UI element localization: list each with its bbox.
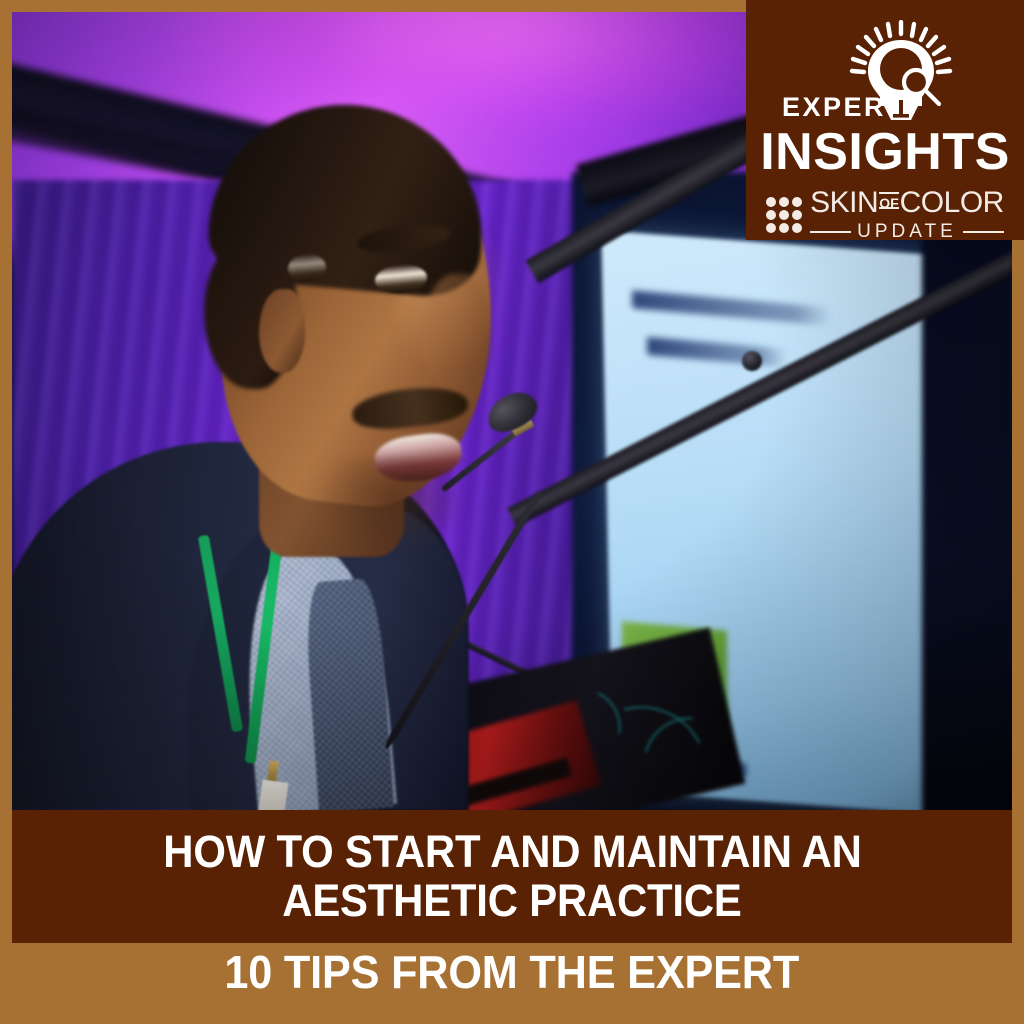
nose (421, 274, 491, 389)
hair (205, 94, 493, 301)
skin-of-color-text-block: SKIN OF COLOR UPDATE (810, 188, 1004, 241)
subtitle-band: 10 TIPS FROM THE EXPERT (12, 943, 1012, 1024)
title-line-2: AESTHETIC PRACTICE (282, 877, 741, 926)
promo-card: EXPERT INSIGHTS SKIN OF COLOR UPDATE (0, 0, 1024, 1024)
subtitle-text: 10 TIPS FROM THE EXPERT (225, 949, 800, 995)
update-rule-right (963, 231, 1004, 233)
lightbulb-magnifier-icon (838, 20, 966, 124)
title-banner: HOW TO START AND MAINTAIN AN AESTHETIC P… (12, 810, 1012, 943)
title-line-1: HOW TO START AND MAINTAIN AN (163, 828, 861, 877)
speaker-figure (12, 44, 572, 810)
chin-shadow (317, 458, 468, 558)
brand-word-update: UPDATE (857, 222, 957, 241)
skin-of-color-lockup: SKIN OF COLOR UPDATE (766, 188, 1004, 241)
expert-insights-logo-badge: EXPERT INSIGHTS SKIN OF COLOR UPDATE (746, 0, 1024, 240)
logo-wordmark: INSIGHTS (760, 126, 1010, 178)
skin-of-color-wordmark: SKIN OF COLOR (810, 188, 1004, 218)
brand-word-color: COLOR (900, 188, 1004, 218)
update-rule-left (810, 231, 851, 233)
brand-word-skin: SKIN (810, 188, 878, 218)
dot-grid-icon (766, 197, 802, 233)
ear (259, 289, 305, 373)
brand-word-of: OF (879, 196, 898, 210)
update-row: UPDATE (810, 222, 1004, 241)
truss-knob (742, 351, 762, 371)
